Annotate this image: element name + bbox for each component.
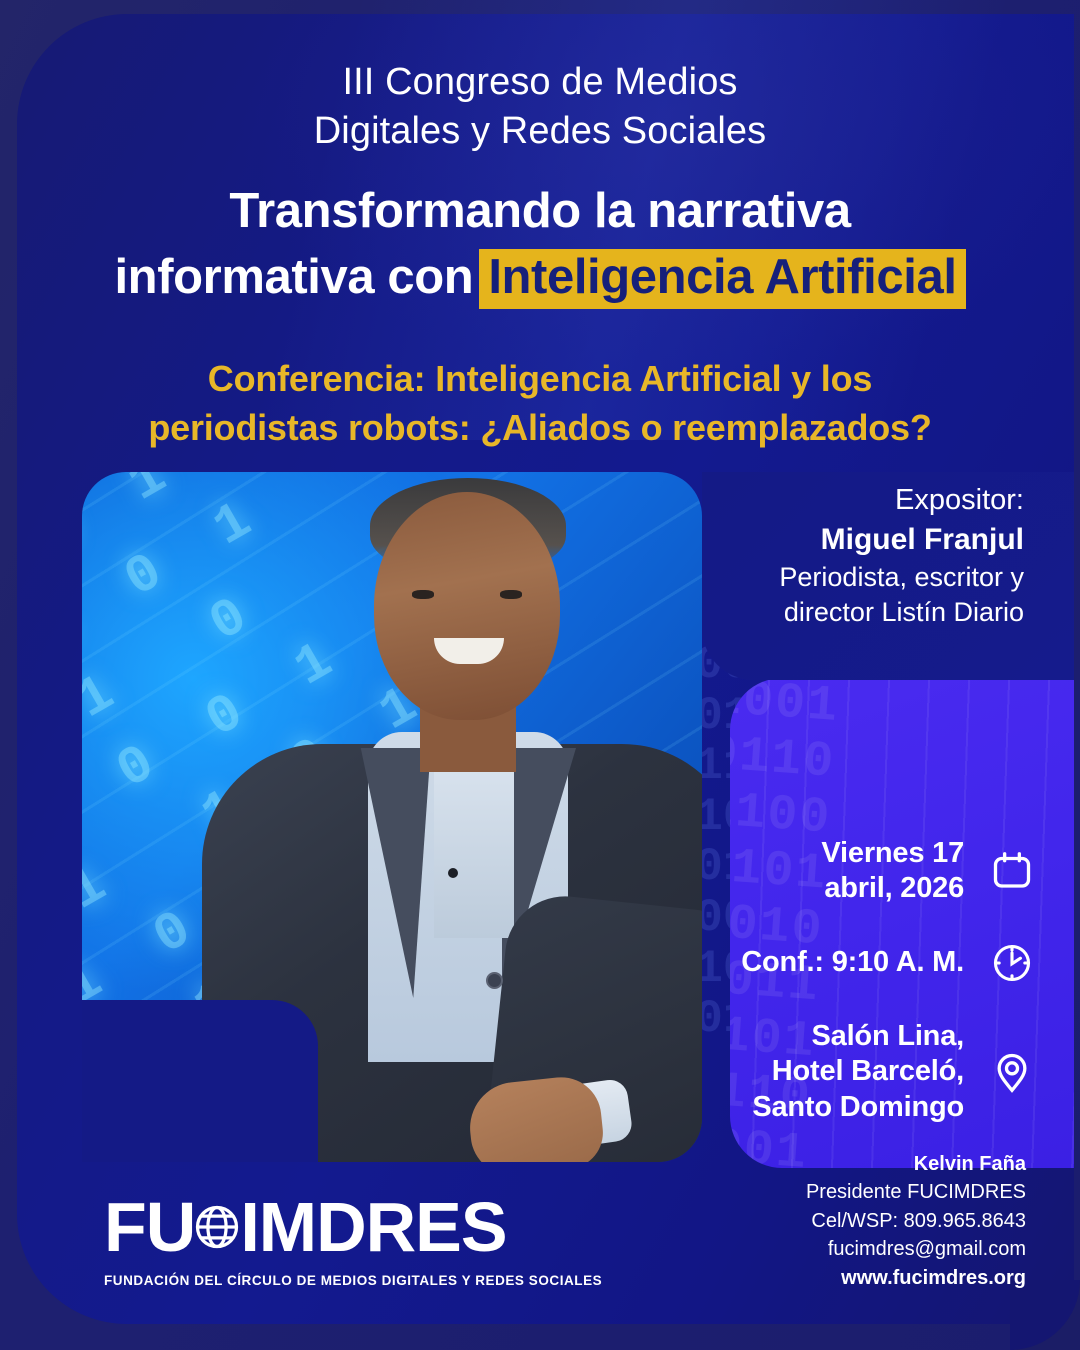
- page-title: Transformando la narrativa informativa c…: [0, 181, 1080, 309]
- globe-icon: [191, 1201, 243, 1253]
- contact-info: Kelvin Faña Presidente FUCIMDRES Cel/WSP…: [806, 1150, 1026, 1292]
- contact-phone: Cel/WSP: 809.965.8643: [806, 1207, 1026, 1235]
- contact-email: fucimdres@gmail.com: [806, 1235, 1026, 1263]
- event-venue-line-1: Salón Lina,: [752, 1019, 964, 1054]
- figure-lapel-mic-icon: [448, 868, 458, 878]
- speaker-role-line-1: Periodista, escritor y: [704, 560, 1024, 595]
- figure-eye-right: [500, 590, 522, 599]
- conference-line-1: Conferencia: Inteligencia Artificial y l…: [0, 355, 1080, 404]
- title-line-2-prefix: informativa con: [114, 250, 473, 304]
- event-time: Conf.: 9:10 A. M.: [741, 945, 964, 980]
- event-date-line-1: Viernes 17: [821, 836, 964, 871]
- event-details: Viernes 17 abril, 2026 Conf.: 9:10 A. M.: [674, 836, 1034, 1159]
- figure-head: [374, 492, 560, 720]
- calendar-icon: [990, 849, 1034, 893]
- logo-part-1: FU: [104, 1192, 195, 1262]
- poster-header: III Congreso de Medios Digitales y Redes…: [0, 58, 1080, 452]
- event-venue-line-3: Santo Domingo: [752, 1090, 964, 1125]
- congress-line-1: III Congreso de Medios: [0, 58, 1080, 107]
- speaker-label: Expositor:: [704, 482, 1024, 520]
- logo-part-2: IMDRES: [240, 1192, 506, 1262]
- conference-title: Conferencia: Inteligencia Artificial y l…: [0, 355, 1080, 452]
- clock-icon: [990, 941, 1034, 985]
- speaker-role: Periodista, escritor y director Listín D…: [704, 560, 1024, 629]
- conference-line-2: periodistas robots: ¿Aliados o reemplaza…: [0, 404, 1080, 453]
- event-date: Viernes 17 abril, 2026: [821, 836, 964, 907]
- event-venue: Salón Lina, Hotel Barceló, Santo Domingo: [752, 1019, 964, 1125]
- fucimdres-logo: FU IMDRES FUNDACIÓN DEL CÍRCULO DE MEDIO…: [104, 1192, 602, 1288]
- logo-wordmark: FU IMDRES: [104, 1192, 602, 1262]
- title-line-2: informativa conInteligencia Artificial: [0, 247, 1080, 309]
- figure-shirt-front: [434, 758, 514, 938]
- event-venue-line-2: Hotel Barceló,: [752, 1054, 964, 1089]
- location-pin-icon: [990, 1050, 1034, 1094]
- figure-jacket-button: [486, 972, 503, 989]
- title-line-1: Transformando la narrativa: [0, 181, 1080, 243]
- speaker-role-line-2: director Listín Diario: [704, 595, 1024, 630]
- event-poster: III Congreso de Medios Digitales y Redes…: [0, 0, 1080, 1350]
- contact-position: Presidente FUCIMDRES: [806, 1178, 1026, 1206]
- figure-eye-left: [412, 590, 434, 599]
- event-date-line-2: abril, 2026: [821, 871, 964, 906]
- detail-row-venue: Salón Lina, Hotel Barceló, Santo Domingo: [674, 1019, 1034, 1125]
- photo-corner-notch: [82, 1000, 318, 1162]
- detail-row-time: Conf.: 9:10 A. M.: [674, 941, 1034, 985]
- congress-name: III Congreso de Medios Digitales y Redes…: [0, 58, 1080, 157]
- congress-line-2: Digitales y Redes Sociales: [0, 107, 1080, 156]
- speaker-name: Miguel Franjul: [704, 520, 1024, 561]
- logo-tagline: FUNDACIÓN DEL CÍRCULO DE MEDIOS DIGITALE…: [104, 1273, 602, 1288]
- contact-website: www.fucimdres.org: [806, 1264, 1026, 1292]
- detail-row-date: Viernes 17 abril, 2026: [674, 836, 1034, 907]
- title-highlight: Inteligencia Artificial: [479, 249, 965, 309]
- contact-name: Kelvin Faña: [806, 1150, 1026, 1178]
- speaker-info: Expositor: Miguel Franjul Periodista, es…: [704, 482, 1024, 629]
